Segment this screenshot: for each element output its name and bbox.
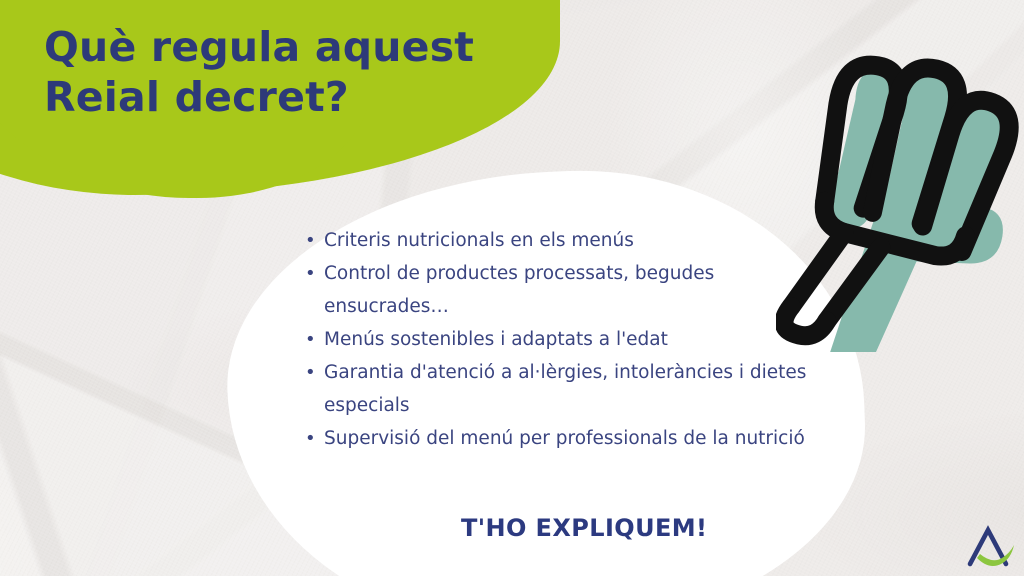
list-item: Garantia d'atenció a al·lèrgies, intoler…: [300, 356, 810, 422]
page-title: Què regula aquest Reial decret?: [44, 22, 564, 122]
list-item: Supervisió del menú per professionals de…: [300, 422, 810, 455]
slide-canvas: Què regula aquest Reial decret? Criteris…: [0, 0, 1024, 576]
list-item: Criteris nutricionals en els menús: [300, 224, 810, 257]
page-title-line-2: Reial decret?: [44, 72, 564, 122]
logo-a-swoosh-icon: [962, 522, 1018, 570]
bullet-list: Criteris nutricionals en els menús Contr…: [300, 224, 810, 455]
page-title-line-1: Què regula aquest: [44, 22, 564, 72]
fork-icon: [776, 12, 1024, 352]
list-item: Control de productes processats, begudes…: [300, 257, 810, 323]
cta-text: T'HO EXPLIQUEM!: [461, 514, 707, 542]
list-item: Menús sostenibles i adaptats a l'edat: [300, 323, 810, 356]
